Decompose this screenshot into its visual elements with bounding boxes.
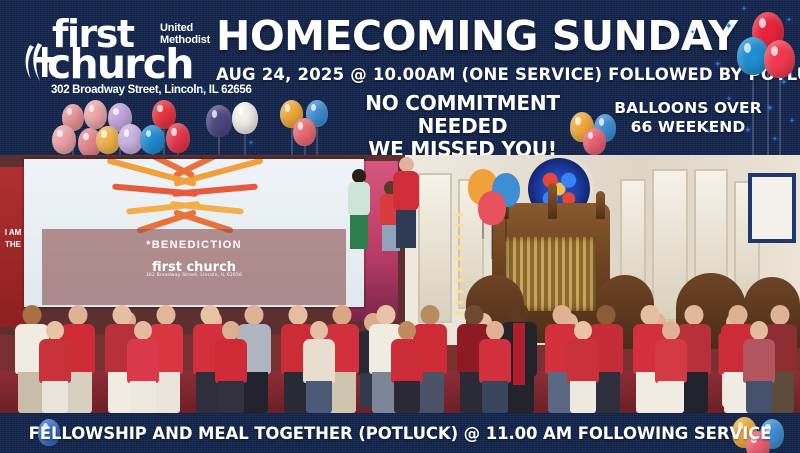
person	[566, 321, 600, 413]
photo-child-left	[346, 169, 372, 251]
person	[390, 321, 424, 413]
logo-address: 302 Broadway Street, Lincoln, IL 62656	[51, 84, 252, 96]
balloon-blue-cyan	[140, 125, 165, 154]
person	[742, 321, 776, 413]
page-title: HOMECOMING SUNDAY	[216, 16, 716, 57]
sparkle-icon: ✦	[690, 30, 695, 36]
congregation-crowd	[0, 251, 800, 413]
person	[478, 321, 512, 413]
sparkle-icon: ✦	[248, 140, 254, 147]
balloons-line-2: 66 WEEKEND	[631, 118, 746, 136]
homecoming-sunday-flyer: first United Methodist church 302 Broadw…	[0, 0, 800, 453]
person	[126, 321, 160, 413]
event-datetime: AUG 24, 2025 @ 10.00AM (ONE SERVICE) FOL…	[216, 65, 716, 84]
altar-spire	[596, 191, 605, 219]
header: first United Methodist church 302 Broadw…	[0, 0, 800, 155]
sparkle-icon: ✦	[725, 22, 733, 31]
sparkle-icon: ✦	[772, 136, 778, 143]
balloon-salmon	[293, 118, 316, 146]
sparkle-icon: ✦	[741, 6, 747, 13]
church-logo: first United Methodist church 302 Broadw…	[22, 17, 222, 97]
balloon-navy-purple	[206, 105, 232, 137]
footer-message: FELLOWSHIP AND MEAL TOGETHER (POTLUCK) @…	[60, 413, 740, 453]
sparkle-icon: ✦	[706, 128, 712, 135]
promo-message: NO COMMITMENT NEEDED WE MISSED YOU!	[320, 92, 605, 162]
benediction-text: *BENEDICTION	[42, 239, 346, 251]
balloons-line-1: BALLOONS OVER	[614, 99, 761, 117]
altar-spire	[548, 183, 557, 219]
sparkle-icon: ✦	[744, 126, 752, 135]
balloon-pink-rose	[52, 125, 76, 154]
logo-church-text: church	[47, 44, 193, 85]
sparkle-icon: ✦	[714, 60, 722, 69]
sparkle-icon: ✦	[200, 88, 205, 94]
sparkle-icon: ✦	[766, 104, 774, 113]
person	[302, 321, 336, 413]
balloon-crimson	[166, 123, 190, 153]
photo-adult-riser	[392, 157, 420, 249]
photo-scene: I AM THE *BENEDICTION	[0, 155, 800, 413]
balloon-right-pink	[764, 40, 795, 78]
person	[214, 321, 248, 413]
balloon-pink-pale	[84, 100, 107, 129]
sparkle-icon: ✦	[780, 78, 788, 87]
person	[654, 321, 688, 413]
balloon-orange	[96, 126, 120, 154]
footer-banner: FELLOWSHIP AND MEAL TOGETHER (POTLUCK) @…	[0, 413, 800, 453]
person	[38, 321, 72, 413]
congregation-photo: I AM THE *BENEDICTION	[0, 155, 800, 413]
balloon-promo-pink	[583, 128, 606, 155]
sparkle-icon: ✦	[786, 17, 792, 24]
sparkle-icon: ✦	[789, 118, 795, 125]
balloon-white	[232, 102, 258, 134]
sparkle-icon: ✦	[726, 96, 732, 103]
promo-line-1: NO COMMITMENT NEEDED	[365, 91, 560, 138]
photo-balloon-red	[478, 191, 506, 225]
framed-artwork	[748, 173, 796, 243]
logo-united: United	[160, 23, 210, 35]
